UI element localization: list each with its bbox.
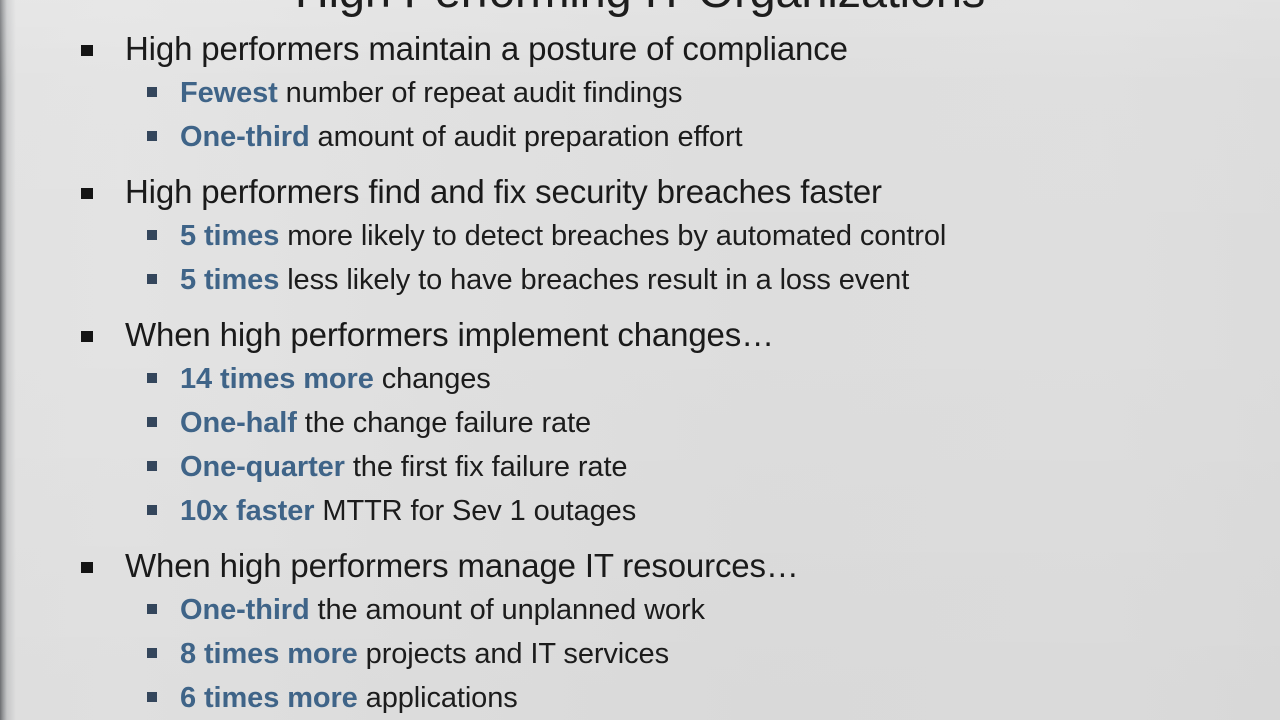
sub-bullet-text: 6 times more applications xyxy=(180,676,1280,720)
bullet-text: High performers maintain a posture of co… xyxy=(125,26,1280,71)
sub-bullet-item: Fewest number of repeat audit findings xyxy=(0,71,1280,115)
sub-bullet-text: Fewest number of repeat audit findings xyxy=(180,71,1280,115)
sub-bullet-item: 5 times less likely to have breaches res… xyxy=(0,258,1280,302)
sub-bullet-item: 5 times more likely to detect breaches b… xyxy=(0,214,1280,258)
sub-bullet-square-icon xyxy=(147,692,157,702)
sub-bullet-item: One-quarter the first fix failure rate xyxy=(0,445,1280,489)
sub-bullet-rest: applications xyxy=(358,682,518,714)
sub-bullet-text: 8 times more projects and IT services xyxy=(180,632,1280,676)
sub-bullet-item: 10x faster MTTR for Sev 1 outages xyxy=(0,489,1280,533)
bullet-square-icon xyxy=(81,188,93,199)
bullet-item: High performers find and fix security br… xyxy=(0,169,1280,214)
sub-bullet-list: One-third the amount of unplanned work8 … xyxy=(0,588,1280,720)
bullet-item: When high performers manage IT resources… xyxy=(0,543,1280,588)
sub-bullet-rest: changes xyxy=(374,363,491,395)
sub-bullet-emphasis: 8 times more xyxy=(180,638,358,670)
sub-bullet-item: 14 times more changes xyxy=(0,357,1280,401)
sub-bullet-text: 10x faster MTTR for Sev 1 outages xyxy=(180,489,1280,533)
sub-bullet-text: 5 times more likely to detect breaches b… xyxy=(180,214,1280,258)
sub-bullet-text: 5 times less likely to have breaches res… xyxy=(180,258,1280,302)
bullet-text: When high performers implement changes… xyxy=(125,312,1280,357)
sub-bullet-item: 6 times more applications xyxy=(0,676,1280,720)
sub-bullet-item: One-third the amount of unplanned work xyxy=(0,588,1280,632)
sub-bullet-emphasis: One-quarter xyxy=(180,451,345,483)
sub-bullet-emphasis: 6 times more xyxy=(180,682,358,714)
bullet-square-icon xyxy=(81,45,93,56)
bullet-square-icon xyxy=(81,562,93,573)
sub-bullet-text: One-quarter the first fix failure rate xyxy=(180,445,1280,489)
sub-bullet-text: One-third amount of audit preparation ef… xyxy=(180,115,1280,159)
sub-bullet-list: Fewest number of repeat audit findingsOn… xyxy=(0,71,1280,159)
sub-bullet-square-icon xyxy=(147,230,157,240)
bullet-text: High performers find and fix security br… xyxy=(125,169,1280,214)
bullet-text: When high performers manage IT resources… xyxy=(125,543,1280,588)
sub-bullet-square-icon xyxy=(147,373,157,383)
sub-bullet-square-icon xyxy=(147,648,157,658)
sub-bullet-emphasis: One-half xyxy=(180,407,297,439)
slide-title: High Performing IT Organizations xyxy=(0,0,1280,18)
sub-bullet-emphasis: One-third xyxy=(180,121,310,153)
sub-bullet-square-icon xyxy=(147,461,157,471)
slide-title-clip: High Performing IT Organizations xyxy=(0,0,1280,20)
sub-bullet-rest: MTTR for Sev 1 outages xyxy=(314,495,636,527)
sub-bullet-list: 5 times more likely to detect breaches b… xyxy=(0,214,1280,302)
sub-bullet-emphasis: One-third xyxy=(180,594,310,626)
sub-bullet-rest: amount of audit preparation effort xyxy=(310,121,743,153)
sub-bullet-square-icon xyxy=(147,274,157,284)
sub-bullet-list: 14 times more changesOne-half the change… xyxy=(0,357,1280,533)
bullet-item: When high performers implement changes… xyxy=(0,312,1280,357)
sub-bullet-rest: number of repeat audit findings xyxy=(278,77,683,109)
sub-bullet-text: One-third the amount of unplanned work xyxy=(180,588,1280,632)
sub-bullet-text: 14 times more changes xyxy=(180,357,1280,401)
sub-bullet-rest: the first fix failure rate xyxy=(345,451,628,483)
presentation-slide: High Performing IT Organizations High pe… xyxy=(0,0,1280,720)
sub-bullet-emphasis: 5 times xyxy=(180,220,279,252)
bullet-item: High performers maintain a posture of co… xyxy=(0,26,1280,71)
sub-bullet-square-icon xyxy=(147,87,157,97)
sub-bullet-emphasis: 5 times xyxy=(180,264,279,296)
sub-bullet-square-icon xyxy=(147,131,157,141)
sub-bullet-emphasis: Fewest xyxy=(180,77,278,109)
sub-bullet-rest: more likely to detect breaches by automa… xyxy=(279,220,946,252)
sub-bullet-rest: the change failure rate xyxy=(297,407,591,439)
sub-bullet-emphasis: 14 times more xyxy=(180,363,374,395)
sub-bullet-rest: the amount of unplanned work xyxy=(310,594,705,626)
sub-bullet-rest: projects and IT services xyxy=(358,638,669,670)
sub-bullet-square-icon xyxy=(147,417,157,427)
sub-bullet-emphasis: 10x faster xyxy=(180,495,314,527)
sub-bullet-square-icon xyxy=(147,505,157,515)
sub-bullet-text: One-half the change failure rate xyxy=(180,401,1280,445)
sub-bullet-square-icon xyxy=(147,604,157,614)
bullet-square-icon xyxy=(81,331,93,342)
sub-bullet-item: One-half the change failure rate xyxy=(0,401,1280,445)
sub-bullet-rest: less likely to have breaches result in a… xyxy=(279,264,909,296)
slide-body-list: High performers maintain a posture of co… xyxy=(0,26,1280,720)
sub-bullet-item: One-third amount of audit preparation ef… xyxy=(0,115,1280,159)
sub-bullet-item: 8 times more projects and IT services xyxy=(0,632,1280,676)
